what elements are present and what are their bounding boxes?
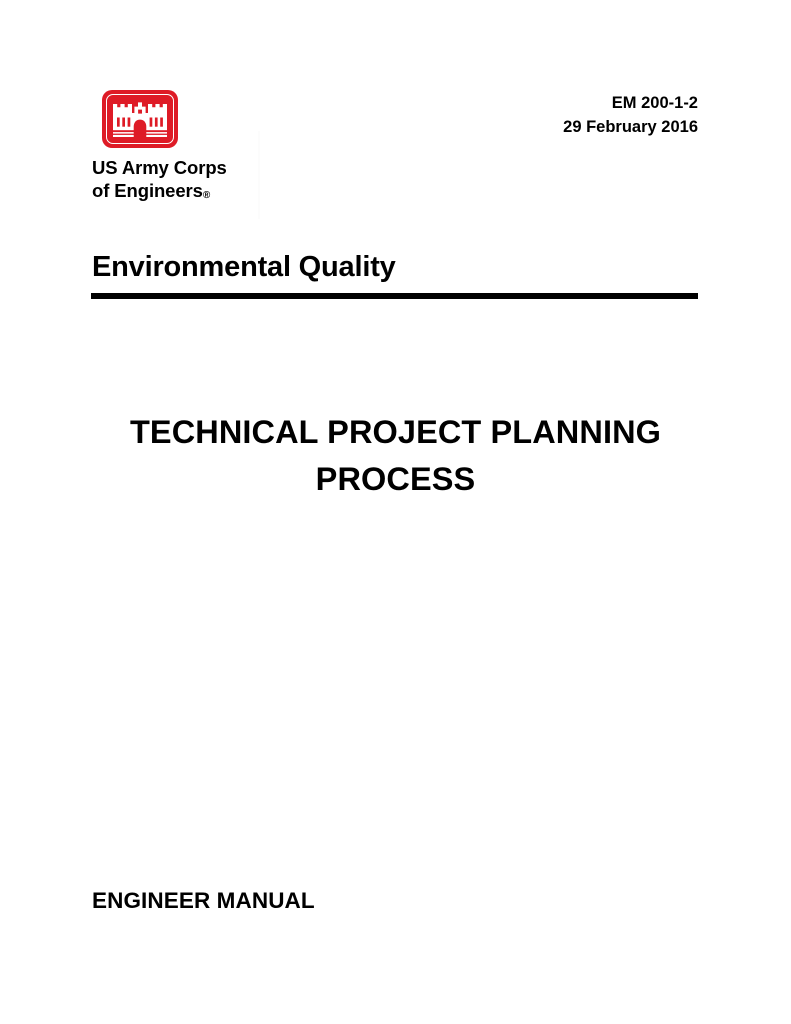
header-vertical-divider xyxy=(258,131,260,219)
document-title-line-1: TECHNICAL PROJECT PLANNING xyxy=(92,409,699,456)
usace-wordmark: US Army Corps of Engineers® xyxy=(92,157,262,203)
series-divider-rule xyxy=(91,293,698,299)
document-title: TECHNICAL PROJECT PLANNING PROCESS xyxy=(92,409,699,504)
castle-icon xyxy=(111,100,169,139)
usace-brand-block: US Army Corps of Engineers® xyxy=(92,90,262,203)
series-heading: Environmental Quality xyxy=(92,251,396,284)
document-number: EM 200-1-2 xyxy=(563,91,698,115)
document-cover-page: US Army Corps of Engineers® EM 200-1-2 2… xyxy=(0,0,791,1024)
cover-header: US Army Corps of Engineers® EM 200-1-2 2… xyxy=(0,0,791,220)
org-line-2-wrapper: of Engineers® xyxy=(92,180,262,203)
document-date: 29 February 2016 xyxy=(563,115,698,139)
publication-type-label: ENGINEER MANUAL xyxy=(92,888,315,914)
document-metadata: EM 200-1-2 29 February 2016 xyxy=(563,91,698,139)
org-line-1: US Army Corps xyxy=(92,157,262,180)
usace-castle-logo xyxy=(102,90,178,148)
registered-trademark-icon: ® xyxy=(203,190,210,201)
document-title-line-2: PROCESS xyxy=(92,456,699,503)
org-line-2: of Engineers xyxy=(92,180,203,201)
